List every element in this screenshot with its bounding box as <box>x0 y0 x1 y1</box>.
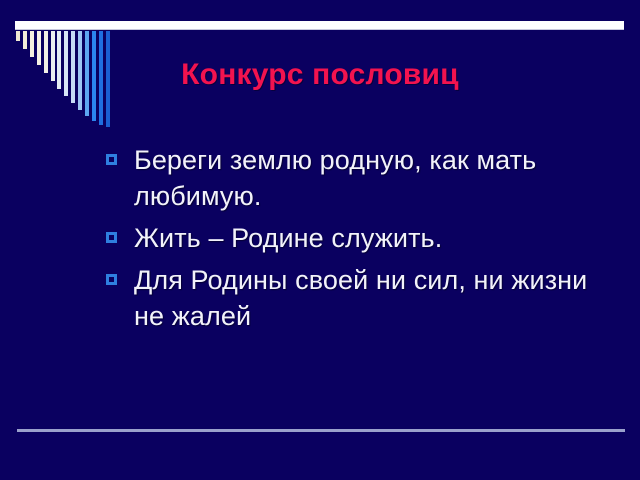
slide-canvas: Конкурс пословиц Береги землю родную, ка… <box>0 0 640 480</box>
top-horizontal-rule <box>15 21 624 29</box>
bottom-horizontal-rule <box>17 429 625 432</box>
ornament-bar <box>30 31 34 57</box>
list-item-label: Для Родины своей ни сил, ни жизни не жал… <box>134 265 587 331</box>
page-title: Конкурс пословиц <box>0 58 640 92</box>
list-item: Жить – Родине служить. <box>104 220 616 256</box>
square-bullet-icon <box>106 232 117 243</box>
ornament-bar <box>23 31 27 49</box>
list-item: Для Родины своей ни сил, ни жизни не жал… <box>104 262 616 334</box>
bullet-list: Береги землю родную, как мать любимую. Ж… <box>104 142 616 340</box>
list-item: Береги землю родную, как мать любимую. <box>104 142 616 214</box>
list-item-label: Береги землю родную, как мать любимую. <box>134 145 536 211</box>
square-bullet-icon <box>106 154 117 165</box>
ornament-bar <box>16 31 20 41</box>
square-bullet-icon <box>106 274 117 285</box>
list-item-label: Жить – Родине служить. <box>134 223 442 253</box>
